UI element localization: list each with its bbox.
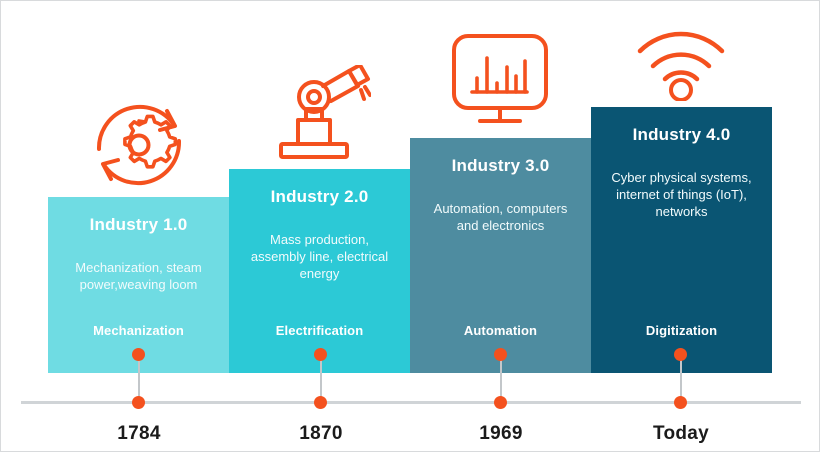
year-label-1: 1784 [59,423,219,445]
stage-description: Mechanization, steam power,weaving loom [48,259,229,293]
year-label-3: 1969 [421,423,581,445]
stage-tag: Digitization [591,323,772,338]
stage-bar-2[interactable]: Industry 2.0 Mass production, assembly l… [229,169,410,373]
timeline-year-dot[interactable] [494,396,507,409]
timeline-year-dot[interactable] [132,396,145,409]
stage-marker-dot[interactable] [132,348,145,361]
stage-title: Industry 4.0 [633,125,731,145]
stage-marker-dot[interactable] [494,348,507,361]
infographic-canvas: Industry 1.0 Mechanization, steam power,… [0,0,820,452]
year-label-2: 1870 [241,423,401,445]
robot-arm-icon [273,65,371,165]
monitor-bar-chart-icon [448,31,552,129]
stage-title: Industry 2.0 [271,187,369,207]
stage-bar-4[interactable]: Industry 4.0 Cyber physical systems, int… [591,107,772,373]
stage-description: Automation, computers and electronics [410,200,591,234]
stage-marker-dot[interactable] [314,348,327,361]
stage-title: Industry 1.0 [90,215,188,235]
stage-bar-3[interactable]: Industry 3.0 Automation, computers and e… [410,138,591,373]
timeline-year-dot[interactable] [314,396,327,409]
gear-cycle-icon [89,97,189,193]
stage-marker-dot[interactable] [674,348,687,361]
year-label-4: Today [601,423,761,445]
stage-tag: Mechanization [48,323,229,338]
stage-description: Mass production, assembly line, electric… [229,231,410,282]
wifi-signal-icon [634,23,728,101]
stage-title: Industry 3.0 [452,156,550,176]
stage-tag: Automation [410,323,591,338]
stage-description: Cyber physical systems, internet of thin… [591,169,772,220]
stage-tag: Electrification [229,323,410,338]
timeline-year-dot[interactable] [674,396,687,409]
stage-bar-1[interactable]: Industry 1.0 Mechanization, steam power,… [48,197,229,373]
